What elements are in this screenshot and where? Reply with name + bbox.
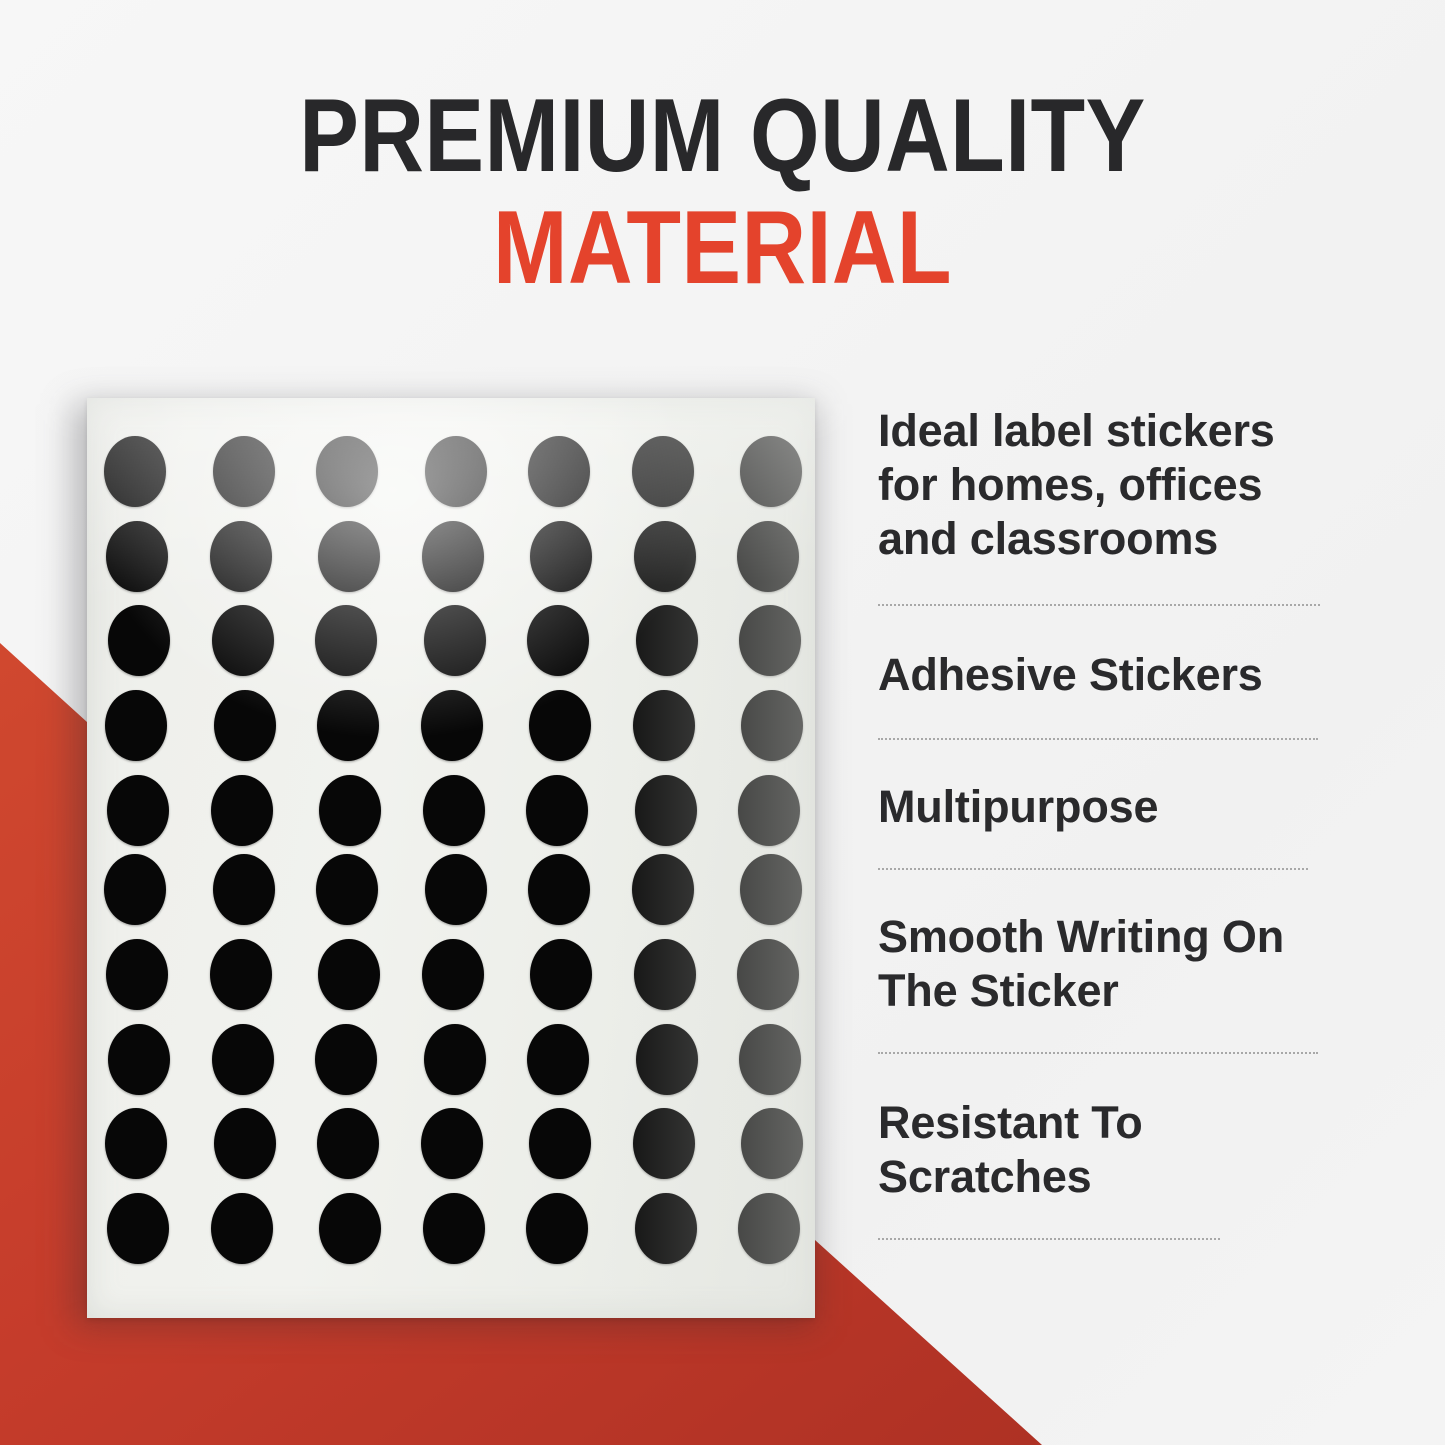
- sticker-dot: [526, 1193, 588, 1264]
- sticker-dot: [213, 436, 275, 507]
- sticker-dot: [425, 854, 487, 925]
- sticker-dot: [214, 1108, 276, 1179]
- sticker-dot: [214, 690, 276, 761]
- sticker-dot: [526, 775, 588, 846]
- sticker-dot: [212, 1024, 274, 1095]
- sticker-dot: [106, 521, 168, 592]
- sticker-dot: [319, 1193, 381, 1264]
- sticker-dot: [105, 690, 167, 761]
- sticker-dot: [636, 1024, 698, 1095]
- sticker-dot: [422, 939, 484, 1010]
- sticker-dot: [422, 521, 484, 592]
- title-line-primary: PREMIUM QUALITY: [101, 86, 1344, 188]
- sticker-sheet-photo: [87, 398, 815, 1318]
- list-item: Multipurpose: [878, 740, 1338, 870]
- sticker-dot: [636, 605, 698, 676]
- sticker-dot: [424, 1024, 486, 1095]
- feature-divider: [878, 1238, 1220, 1240]
- sticker-dot: [107, 1193, 169, 1264]
- sticker-dot: [739, 1024, 801, 1095]
- list-item: Ideal label stickers for homes, offices …: [878, 404, 1338, 606]
- sticker-dot: [634, 521, 696, 592]
- sticker-dot: [318, 521, 380, 592]
- sticker-dot: [318, 939, 380, 1010]
- sticker-dot: [738, 775, 800, 846]
- sticker-dot: [107, 775, 169, 846]
- sticker-dot: [634, 939, 696, 1010]
- sticker-dot: [425, 436, 487, 507]
- sticker-dot: [528, 436, 590, 507]
- sticker-dot: [315, 1024, 377, 1095]
- feature-label: Smooth Writing On The Sticker: [878, 910, 1338, 1018]
- sticker-dot: [423, 1193, 485, 1264]
- sticker-dot: [633, 1108, 695, 1179]
- sticker-dot: [529, 690, 591, 761]
- list-item: Smooth Writing On The Sticker: [878, 870, 1338, 1054]
- feature-label: Resistant To Scratches: [878, 1096, 1338, 1204]
- sticker-dot: [424, 605, 486, 676]
- sticker-dot: [316, 854, 378, 925]
- list-item: Adhesive Stickers: [878, 606, 1338, 740]
- feature-label: Multipurpose: [878, 780, 1338, 834]
- infographic-canvas: PREMIUM QUALITY MATERIAL Ideal label sti…: [0, 0, 1445, 1445]
- sticker-dot: [211, 1193, 273, 1264]
- sticker-dot: [212, 605, 274, 676]
- page-title: PREMIUM QUALITY MATERIAL: [0, 86, 1445, 300]
- sticker-dot: [104, 436, 166, 507]
- list-item: Resistant To Scratches: [878, 1054, 1338, 1240]
- sticker-dot: [421, 1108, 483, 1179]
- feature-label: Ideal label stickers for homes, offices …: [878, 404, 1338, 566]
- sticker-sheet-paper: [87, 398, 815, 1318]
- sticker-dot: [737, 521, 799, 592]
- sticker-dot: [317, 690, 379, 761]
- sticker-dot: [740, 854, 802, 925]
- sticker-dot: [105, 1108, 167, 1179]
- sticker-dot: [211, 775, 273, 846]
- sticker-dot: [740, 436, 802, 507]
- sticker-dot: [738, 1193, 800, 1264]
- sticker-dot: [741, 1108, 803, 1179]
- sticker-dot: [315, 605, 377, 676]
- sticker-dot: [737, 939, 799, 1010]
- sticker-dot: [213, 854, 275, 925]
- sticker-dot: [106, 939, 168, 1010]
- sticker-dot: [739, 605, 801, 676]
- sticker-dot: [633, 690, 695, 761]
- sticker-dot: [529, 1108, 591, 1179]
- sticker-dot: [632, 436, 694, 507]
- sticker-dot: [210, 939, 272, 1010]
- sticker-dot: [421, 690, 483, 761]
- feature-label: Adhesive Stickers: [878, 648, 1338, 702]
- sticker-dot: [527, 1024, 589, 1095]
- sticker-dot: [528, 854, 590, 925]
- sticker-dot: [741, 690, 803, 761]
- sticker-dot: [530, 521, 592, 592]
- sticker-dot: [108, 1024, 170, 1095]
- sticker-dot: [108, 605, 170, 676]
- sticker-dot: [316, 436, 378, 507]
- sticker-dot: [104, 854, 166, 925]
- sticker-dot: [423, 775, 485, 846]
- sticker-dot-grid: [87, 398, 815, 1318]
- sticker-dot: [635, 1193, 697, 1264]
- title-line-accent: MATERIAL: [101, 198, 1344, 300]
- sticker-dot: [527, 605, 589, 676]
- sticker-dot: [317, 1108, 379, 1179]
- sticker-dot: [530, 939, 592, 1010]
- sticker-dot: [632, 854, 694, 925]
- sticker-dot: [319, 775, 381, 846]
- feature-list: Ideal label stickers for homes, offices …: [878, 404, 1338, 1240]
- sticker-dot: [210, 521, 272, 592]
- sticker-dot: [635, 775, 697, 846]
